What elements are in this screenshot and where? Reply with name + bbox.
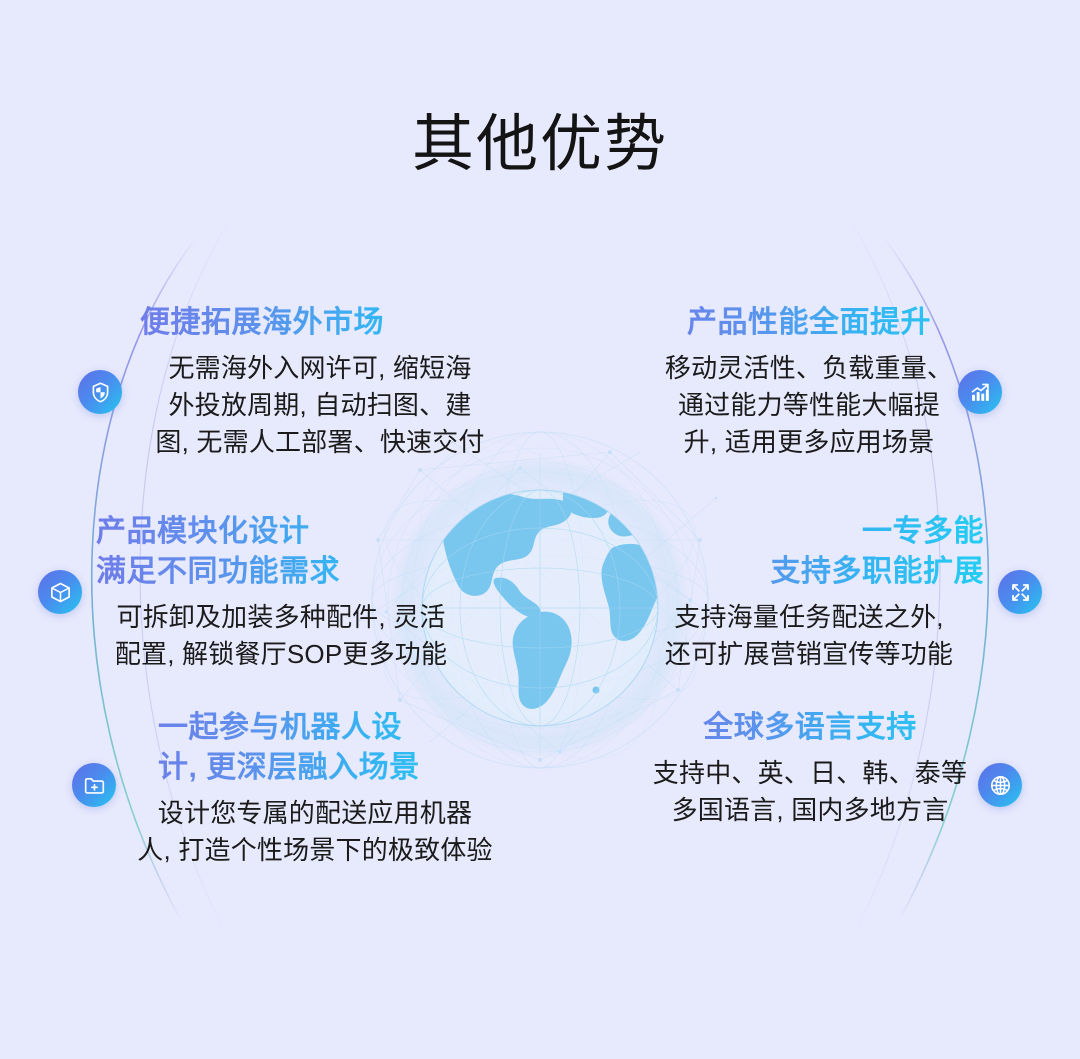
feature-heading: 一专多能 支持多职能扩展 [634,512,984,592]
bar-chart-up-icon [969,381,992,404]
feature-block-multi-function: 一专多能 支持多职能扩展 支持海量任务配送之外, 还可扩展营销宣传等功能 [634,512,984,673]
expand-arrows-icon [1009,581,1032,604]
feature-icon-badge-product-performance[interactable] [958,370,1002,414]
feature-heading: 产品性能全面提升 [634,303,984,343]
feature-body: 可拆卸及加装多种配件, 灵活 配置, 解锁餐厅SOP更多功能 [96,599,466,673]
feature-heading: 便捷拓展海外市场 [140,303,500,343]
feature-icon-badge-modular-design[interactable] [38,570,82,614]
shield-icon [89,381,112,404]
feature-icon-badge-co-design[interactable] [72,763,116,807]
feature-block-product-performance: 产品性能全面提升 移动灵活性、负载重量、 通过能力等性能大幅提 升, 适用更多应… [634,303,984,461]
feature-body: 无需海外入网许可, 缩短海 外投放周期, 自动扫图、建 图, 无需人工部署、快速… [140,350,500,461]
feature-block-modular-design: 产品模块化设计 满足不同功能需求 可拆卸及加装多种配件, 灵活 配置, 解锁餐厅… [96,512,466,673]
feature-icon-badge-multi-function[interactable] [998,570,1042,614]
feature-block-multi-language: 全球多语言支持 支持中、英、日、韩、泰等 多国语言, 国内多地方言 [640,708,980,829]
feature-icon-badge-overseas-market[interactable] [78,370,122,414]
feature-heading: 一起参与机器人设 计, 更深层融入场景 [130,708,500,788]
feature-heading: 产品模块化设计 满足不同功能需求 [96,512,466,592]
feature-icon-badge-multi-language[interactable] [978,763,1022,807]
feature-body: 设计您专属的配送应用机器 人, 打造个性场景下的极致体验 [130,795,500,869]
cube-icon [49,581,72,604]
feature-block-co-design: 一起参与机器人设 计, 更深层融入场景 设计您专属的配送应用机器 人, 打造个性… [130,708,500,869]
globe-icon [989,774,1012,797]
infographic-canvas: 其他优势 便捷拓展海外市场 无需海外入网许可, 缩短海 外投放周期, 自动扫图、… [0,0,1080,1059]
feature-body: 支持海量任务配送之外, 还可扩展营销宣传等功能 [634,599,984,673]
feature-body: 移动灵活性、负载重量、 通过能力等性能大幅提 升, 适用更多应用场景 [634,350,984,461]
folder-plus-icon [83,774,106,797]
feature-body: 支持中、英、日、韩、泰等 多国语言, 国内多地方言 [640,755,980,829]
page-title: 其他优势 [0,108,1080,182]
feature-block-overseas-market: 便捷拓展海外市场 无需海外入网许可, 缩短海 外投放周期, 自动扫图、建 图, … [140,303,500,461]
feature-heading: 全球多语言支持 [640,708,980,748]
